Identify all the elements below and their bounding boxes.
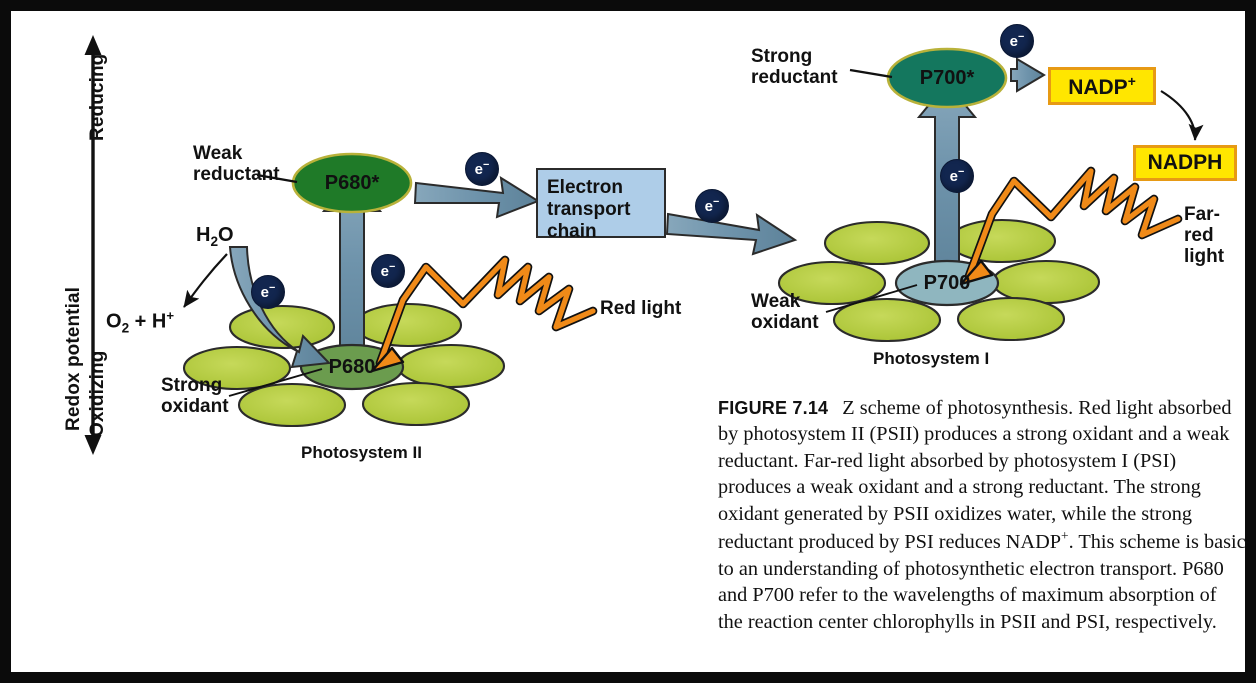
nadph-box[interactable]: NADPH xyxy=(1133,145,1237,181)
axis-title: Redox potential xyxy=(63,287,84,431)
proton-superscript: + xyxy=(166,308,174,323)
frame-border-top xyxy=(0,0,1256,11)
electron-badge-psi-excitation: e− xyxy=(940,159,974,193)
antenna-ellipse xyxy=(949,220,1055,262)
electron-transport-chain-box[interactable]: Electron transport chain xyxy=(536,168,666,238)
frame-border-left xyxy=(0,0,11,683)
oxygen-subscript: 2 xyxy=(122,321,130,336)
figure-number: FIGURE 7.14 xyxy=(718,398,828,418)
frame-border-right xyxy=(1245,0,1256,683)
antenna-ellipse xyxy=(398,345,504,387)
antenna-ellipse xyxy=(958,298,1064,340)
figure-page: Redox potential Reducing Oxidizing Weak … xyxy=(0,0,1256,683)
axis-bottom-label: Oxidizing xyxy=(87,351,108,437)
strong-reductant-leader xyxy=(850,70,892,77)
electron-badge-psii-excitation: e− xyxy=(371,254,405,288)
antenna-ellipse xyxy=(239,384,345,426)
nadp-reduction-arrow xyxy=(1161,91,1195,140)
nadph-label: NADPH xyxy=(1148,151,1223,175)
photosystem-2-title: Photosystem II xyxy=(301,443,422,462)
strong-reductant-label: Strong reductant xyxy=(751,46,838,89)
oxygen-release-arrow xyxy=(184,254,227,307)
electron-badge-etc-to-psi: e− xyxy=(695,189,729,223)
water-label: H2O xyxy=(196,224,234,249)
far-red-light-label: Far-red light xyxy=(1184,205,1245,268)
p700-star-excited[interactable] xyxy=(888,49,1006,107)
weak-oxidant-label: Weak oxidant xyxy=(751,291,819,334)
red-light-label: Red light xyxy=(600,299,681,320)
weak-reductant-label: Weak reductant xyxy=(193,143,280,186)
electron-badge-psii-to-etc: e− xyxy=(465,152,499,186)
antenna-ellipse xyxy=(993,261,1099,303)
strong-oxidant-label: Strong oxidant xyxy=(161,375,229,418)
figure-caption-body: Z scheme of photosynthesis. Red light ab… xyxy=(718,397,1231,553)
nadp-plus-label: NADP+ xyxy=(1068,73,1136,100)
etc-to-psi-arrow xyxy=(667,214,795,254)
antenna-ellipse xyxy=(825,222,929,264)
oxygen-products-label: O2 + H+ xyxy=(106,309,174,336)
axis-top-label: Reducing xyxy=(87,54,108,141)
nadp-plus-box[interactable]: NADP+ xyxy=(1048,67,1156,105)
p680-star-excited[interactable] xyxy=(293,154,411,212)
electron-badge-water-split: e− xyxy=(251,275,285,309)
water-subscript: 2 xyxy=(210,234,218,249)
figure-caption: FIGURE 7.14Z scheme of photosynthesis. R… xyxy=(718,395,1246,635)
antenna-ellipse xyxy=(355,304,461,346)
p700-to-nadp-arrow xyxy=(1011,59,1044,91)
electron-badge-psi-to-nadp: e− xyxy=(1000,24,1034,58)
frame-border-bottom xyxy=(0,672,1256,683)
photosystem-1-title: Photosystem I xyxy=(873,349,989,368)
figure-caption-superscript: + xyxy=(1061,528,1069,543)
diagram-canvas: Redox potential Reducing Oxidizing Weak … xyxy=(11,11,1245,672)
antenna-ellipse xyxy=(363,383,469,425)
